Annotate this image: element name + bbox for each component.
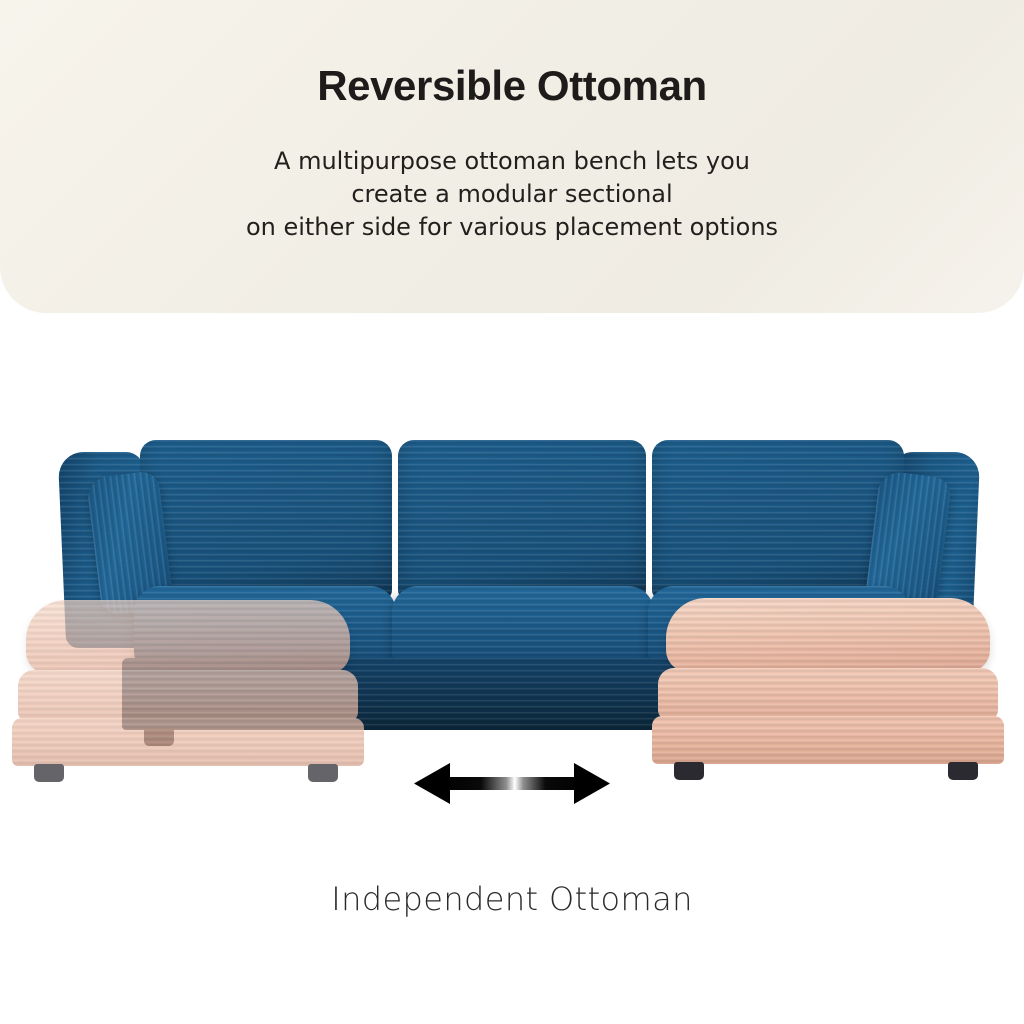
corduroy-texture (26, 600, 350, 674)
corduroy-texture (652, 440, 904, 600)
ottoman-cushion (666, 598, 990, 672)
subtitle-line-1: A multipurpose ottoman bench lets you (0, 145, 1024, 178)
double-arrow-annotation (412, 760, 612, 808)
header-subtitle: A multipurpose ottoman bench lets you cr… (0, 145, 1024, 244)
ottoman-base (12, 718, 364, 766)
ottoman-right[interactable] (652, 598, 1004, 778)
sofa-back-cushion (140, 440, 392, 600)
corduroy-texture (18, 670, 358, 722)
ottoman-midsection (18, 670, 358, 722)
double-headed-arrow-icon (412, 760, 612, 808)
corduroy-texture (666, 598, 990, 672)
sofa-seat-cushion (392, 586, 654, 668)
ottoman-leg (34, 764, 64, 782)
corduroy-texture (140, 440, 392, 600)
ottoman-leg (674, 762, 704, 780)
ottoman-left[interactable] (12, 600, 364, 780)
corduroy-texture (398, 440, 646, 600)
product-infographic-page: Reversible Ottoman A multipurpose ottoma… (0, 0, 1024, 1024)
header-panel: Reversible Ottoman A multipurpose ottoma… (0, 0, 1024, 313)
ottoman-base (652, 716, 1004, 764)
corduroy-texture (392, 586, 654, 668)
footer-caption: Independent Ottoman (0, 880, 1024, 918)
ottoman-cushion (26, 600, 350, 674)
ottoman-midsection (658, 668, 998, 720)
corduroy-texture (12, 718, 364, 766)
ottoman-leg (308, 764, 338, 782)
sofa-back-cushion (652, 440, 904, 600)
corduroy-texture (652, 716, 1004, 764)
ottoman-leg (948, 762, 978, 780)
sofa-back-cushion (398, 440, 646, 600)
subtitle-line-2: create a modular sectional (0, 178, 1024, 211)
corduroy-texture (658, 668, 998, 720)
page-title: Reversible Ottoman (0, 62, 1024, 110)
subtitle-line-3: on either side for various placement opt… (0, 211, 1024, 244)
